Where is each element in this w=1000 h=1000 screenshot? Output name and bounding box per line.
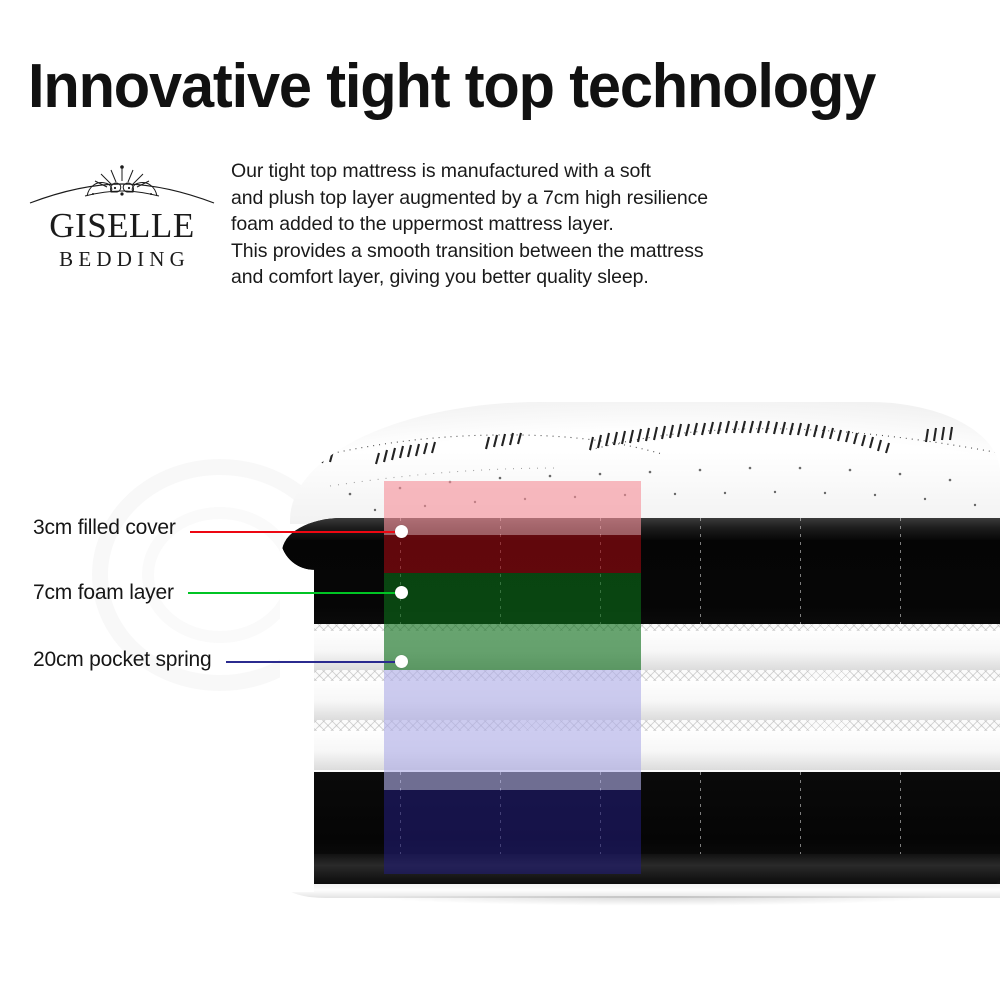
callout-label-foam-layer: 7cm foam layer: [33, 581, 174, 605]
intro-line: foam added to the uppermost mattress lay…: [231, 211, 751, 238]
intro-line: and plush top layer augmented by a 7cm h…: [231, 185, 751, 212]
page-title: Innovative tight top technology: [28, 55, 950, 119]
callout-leader-line-foam-layer: [188, 592, 402, 594]
intro-line: and comfort layer, giving you better qua…: [231, 264, 751, 291]
callout-leader-line-pocket-spring: [226, 661, 402, 663]
callout-dot-pocket-spring: [395, 655, 408, 668]
overlay-segment-spring-white-band: [384, 670, 641, 790]
callout-dot-filled-cover: [395, 525, 408, 538]
giselle-bedding-logo: GISELLE BEDDING: [27, 163, 217, 283]
logo-tagline: BEDDING: [27, 247, 217, 272]
overlay-segment-foam-band: [384, 573, 641, 670]
callout-label-pocket-spring: 20cm pocket spring: [33, 648, 212, 672]
intro-line: This provides a smooth transition betwee…: [231, 238, 751, 265]
layer-colour-overlay: [384, 481, 641, 874]
intro-paragraph: Our tight top mattress is manufactured w…: [231, 158, 751, 291]
drop-shadow: [312, 896, 1000, 910]
callout-dot-foam-layer: [395, 586, 408, 599]
overlay-segment-spring-black-band: [384, 790, 641, 874]
overlay-segment-cover-border: [384, 535, 641, 573]
overlay-segment-cover-top-quilt: [384, 481, 641, 535]
intro-line: Our tight top mattress is manufactured w…: [231, 158, 751, 185]
logo-brand-name: GISELLE: [27, 207, 217, 245]
crown-flourish-icon: [27, 163, 217, 209]
callout-label-filled-cover: 3cm filled cover: [33, 516, 176, 540]
callout-leader-line-filled-cover: [190, 531, 402, 533]
